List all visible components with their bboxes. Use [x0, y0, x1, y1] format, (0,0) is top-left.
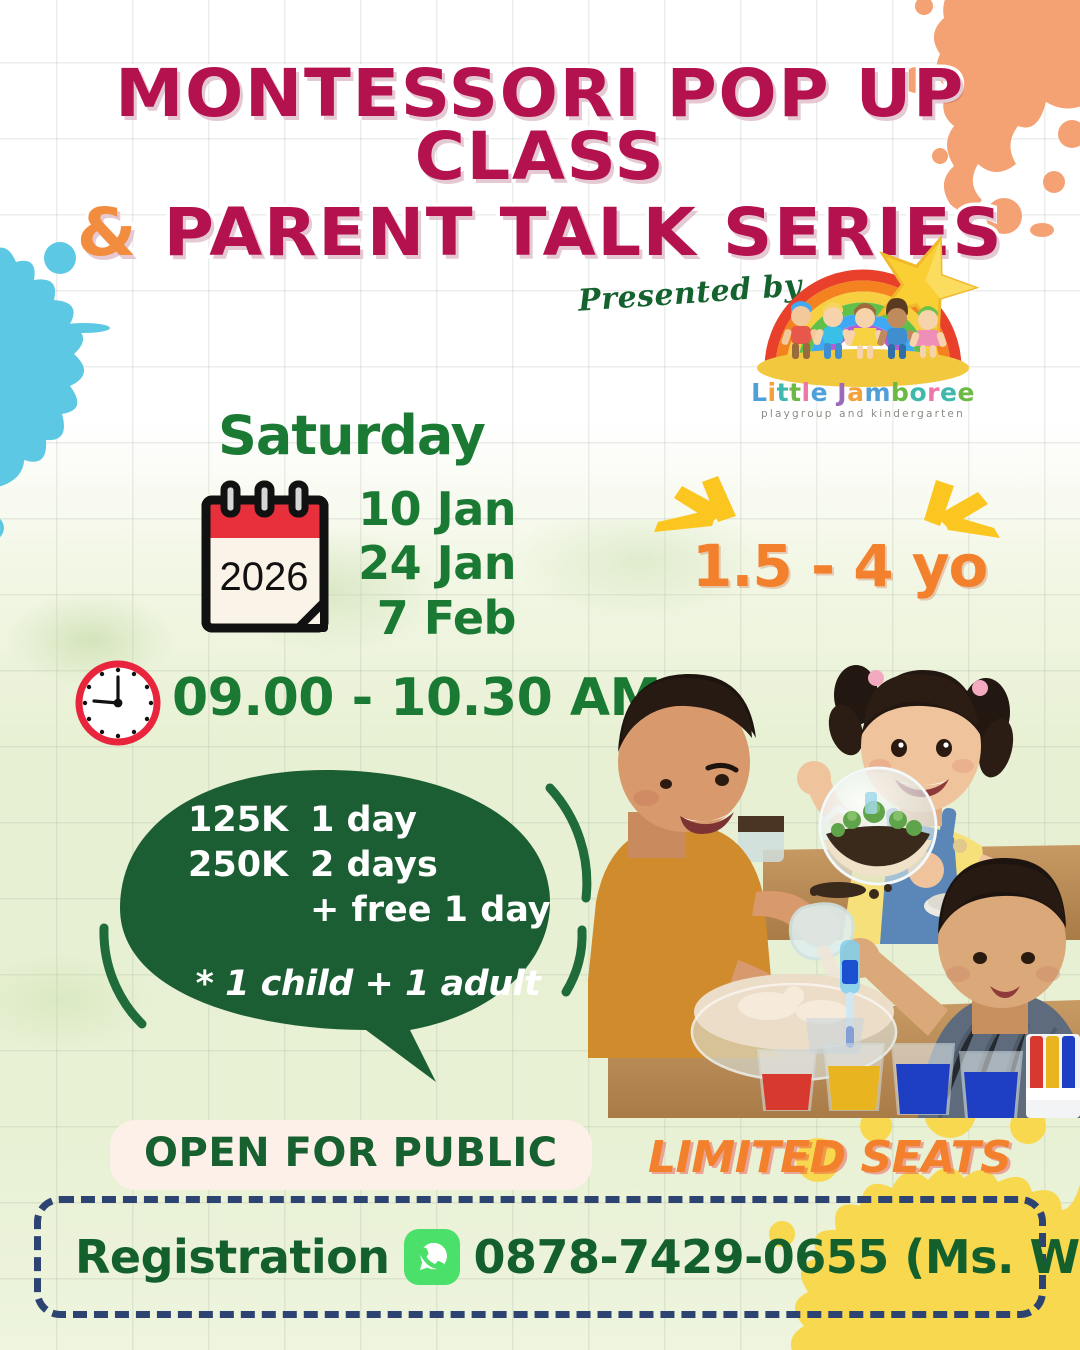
poster-title-block: MONTESSORI POP UP CLASS & PARENT TALK SE…	[0, 62, 1080, 264]
decor-arc-right-inner	[566, 930, 582, 992]
logo-letter-13: e	[940, 378, 957, 407]
logo-letter-1: i	[768, 378, 777, 407]
poster-canvas: MONTESSORI POP UP CLASS & PARENT TALK SE…	[0, 0, 1080, 1350]
pricing-desc-0: 1 day	[310, 800, 417, 840]
presented-by-block: Presented by	[560, 258, 1020, 448]
logo-letter-8: a	[847, 378, 864, 407]
logo-letter-5: e	[811, 378, 828, 407]
whatsapp-icon[interactable]	[404, 1229, 460, 1285]
logo-letter-11: o	[909, 378, 927, 407]
calendar-year-text: 2026	[220, 555, 309, 599]
clock-icon	[72, 657, 164, 749]
status-badge-limited-seats: LIMITED SEATS	[648, 1132, 1011, 1183]
age-range-block: 1.5 - 4 yo	[640, 470, 1020, 620]
pricing-bubble: 125K1 day 250K2 days + free 1 day * 1 ch…	[80, 762, 620, 1092]
children-activity-photo	[588, 640, 1080, 1118]
logo-letter-2: t	[777, 378, 789, 407]
pricing-bonus: + free 1 day	[188, 888, 518, 933]
page-title-line-1: MONTESSORI POP UP CLASS	[0, 62, 1080, 189]
little-jamboree-logo: Little Jamboree playgroup and kindergart…	[738, 236, 988, 448]
paint-splatter-blue-icon	[0, 228, 172, 548]
schedule-dates-list: 10 Jan 24 Jan 7 Feb	[336, 482, 516, 645]
logo-letter-14: e	[957, 378, 974, 407]
logo-letter-4: l	[802, 378, 811, 407]
pricing-amount-0: 125K	[188, 798, 310, 843]
pricing-row-0: 125K1 day	[188, 798, 518, 843]
logo-letter-7: J	[837, 378, 847, 407]
pricing-amount-1: 250K	[188, 843, 310, 888]
registration-label: Registration	[75, 1230, 390, 1284]
logo-letter-12: r	[927, 378, 940, 407]
schedule-day-label: Saturday	[218, 404, 485, 467]
decor-arc-right-outer	[550, 788, 587, 898]
logo-wordmark: Little Jamboree	[738, 378, 988, 407]
logo-letter-3: t	[789, 378, 801, 407]
age-range-label: 1.5 - 4 yo	[692, 532, 987, 600]
ampersand-glyph: &	[77, 194, 138, 271]
pricing-row-1: 250K2 days	[188, 843, 518, 888]
logo-letter-0: L	[751, 378, 767, 407]
date-item-2: 7 Feb	[336, 591, 516, 645]
date-item-1: 24 Jan	[336, 536, 516, 590]
logo-letter-9: m	[864, 378, 891, 407]
pricing-rows: 125K1 day 250K2 days + free 1 day	[188, 798, 518, 932]
logo-letter-6	[828, 378, 837, 407]
calendar-icon: 2026	[196, 478, 336, 638]
registration-phone[interactable]: 0878-7429-0655 (Ms. Wini)	[474, 1230, 1080, 1284]
registration-strip[interactable]: Registration 0878-7429-0655 (Ms. Wini)	[34, 1196, 1046, 1318]
status-badge-open-for-public: OPEN FOR PUBLIC	[110, 1120, 592, 1190]
pricing-desc-1: 2 days	[310, 845, 438, 885]
logo-tagline: playgroup and kindergarten	[738, 408, 988, 420]
logo-letter-10: b	[891, 378, 909, 407]
pricing-note: * 1 child + 1 adult	[168, 964, 568, 1004]
date-item-0: 10 Jan	[336, 482, 516, 536]
